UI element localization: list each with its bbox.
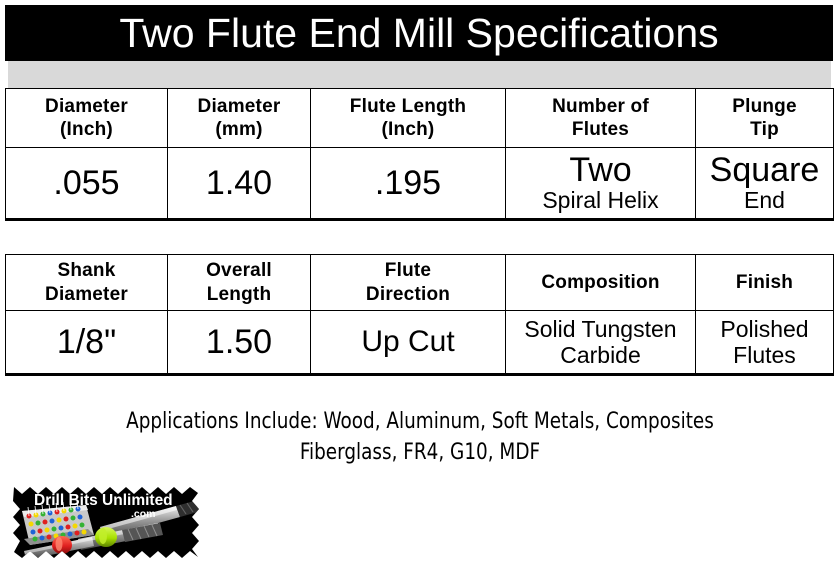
value-cell-number-of-flutes: TwoSpiral Helix — [506, 148, 696, 220]
grey-divider-bar — [8, 61, 831, 88]
logo-brand-text: Drill Bits Unlimited — [34, 492, 173, 509]
value-cell-subtext: Flutes — [696, 343, 833, 369]
value-cell-composition: Solid TungstenCarbide — [506, 311, 696, 375]
logo-stamp-background: Drill Bits Unlimited .com — [8, 483, 204, 569]
value-cell-subtext: Carbide — [506, 343, 695, 369]
value-cell-diameter-inch: .055 — [6, 148, 168, 220]
header-cell-shank-diameter: ShankDiameter — [6, 255, 168, 311]
table-header-row: Diameter(Inch) Diameter(mm) Flute Length… — [6, 89, 834, 148]
value-cell-flute-direction: Up Cut — [311, 311, 506, 375]
header-cell-number-of-flutes: Number ofFlutes — [506, 89, 696, 148]
value-cell-overall-length: 1.50 — [168, 311, 311, 375]
value-cell-diameter-mm: 1.40 — [168, 148, 311, 220]
spec-table-secondary: ShankDiameter OverallLength FluteDirecti… — [5, 254, 834, 376]
table-header-row: ShankDiameter OverallLength FluteDirecti… — [6, 255, 834, 311]
value-cell-flute-length: .195 — [311, 148, 506, 220]
title-banner: Two Flute End Mill Specifications — [5, 5, 833, 61]
value-cell-subtext: Spiral Helix — [506, 188, 695, 214]
header-cell-flute-direction: FluteDirection — [311, 255, 506, 311]
applications-block: Applications Include: Wood, Aluminum, So… — [0, 406, 840, 468]
table-value-row: .055 1.40 .195 TwoSpiral Helix SquareEnd — [6, 148, 834, 220]
value-cell-shank-diameter: 1/8" — [6, 311, 168, 375]
logo-tld-text: .com — [131, 508, 156, 520]
value-cell-finish: PolishedFlutes — [696, 311, 834, 375]
value-cell-subtext: End — [696, 188, 833, 214]
header-cell-flute-length: Flute Length(Inch) — [311, 89, 506, 148]
header-cell-diameter-inch: Diameter(Inch) — [6, 89, 168, 148]
header-cell-composition: Composition — [506, 255, 696, 311]
applications-line-2: Fiberglass, FR4, G10, MDF — [29, 437, 810, 468]
value-cell-plunge-tip: SquareEnd — [696, 148, 834, 220]
header-cell-finish: Finish — [696, 255, 834, 311]
page-title: Two Flute End Mill Specifications — [119, 13, 718, 54]
brand-logo[interactable]: Drill Bits Unlimited .com — [8, 483, 204, 569]
header-cell-diameter-mm: Diameter(mm) — [168, 89, 311, 148]
header-cell-overall-length: OverallLength — [168, 255, 311, 311]
spec-table-primary: Diameter(Inch) Diameter(mm) Flute Length… — [5, 88, 834, 221]
applications-line-1: Applications Include: Wood, Aluminum, So… — [29, 406, 810, 437]
header-cell-plunge-tip: PlungeTip — [696, 89, 834, 148]
table-value-row: 1/8" 1.50 Up Cut Solid TungstenCarbide P… — [6, 311, 834, 375]
logo-stamp-graphic: Drill Bits Unlimited .com — [8, 483, 204, 569]
